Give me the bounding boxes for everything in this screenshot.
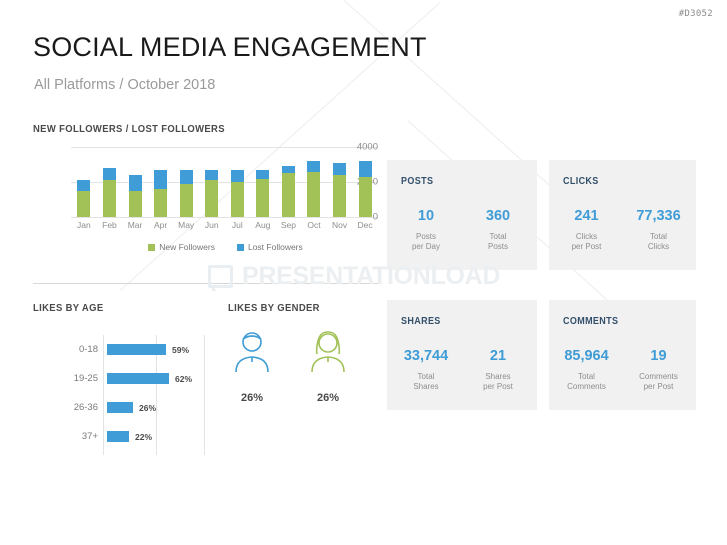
bar-segment-new-followers: [282, 173, 295, 217]
age-row: 37+22%: [28, 422, 203, 451]
bar-segment-new-followers: [333, 175, 346, 217]
section-divider: [33, 283, 378, 284]
presentationload-logo-icon: [208, 265, 233, 288]
kpi-caption: TotalComments: [567, 372, 606, 392]
bar-segment-new-followers: [307, 172, 320, 218]
gender-item-female: 26%: [304, 330, 352, 404]
x-tick-mar: Mar: [124, 220, 146, 230]
kpi-caption: TotalShares: [413, 372, 438, 392]
bar-segment-lost-followers: [154, 170, 167, 189]
bar-segment-lost-followers: [180, 170, 193, 184]
kpi-stat: 10 Postsper Day: [397, 208, 455, 252]
age-bar: [107, 431, 129, 442]
kpi-caption: Postsper Day: [412, 232, 440, 252]
x-tick-jan: Jan: [73, 220, 95, 230]
bar-column-jun: [201, 147, 223, 217]
bar-segment-new-followers: [77, 191, 90, 217]
followers-bars: [73, 147, 376, 217]
bar-column-mar: [124, 147, 146, 217]
bar-column-jul: [226, 147, 248, 217]
kpi-caption: TotalClicks: [648, 232, 669, 252]
likes-by-age-chart: LIKES BY AGE 0-1859%19-2562%26-3626%37+2…: [28, 302, 203, 457]
bar-column-apr: [150, 147, 172, 217]
kpi-stat: 85,964 TotalComments: [558, 348, 616, 392]
bar-column-oct: [303, 147, 325, 217]
bar-column-sep: [278, 147, 300, 217]
kpi-stat: 21 Sharesper Post: [469, 348, 527, 392]
age-value: 62%: [175, 374, 192, 384]
new-lost-followers-chart: NEW FOLLOWERS / LOST FOLLOWERS 4000 2000…: [33, 123, 378, 268]
kpi-card-comments[interactable]: COMMENTS 85,964 TotalComments 19 Comment…: [549, 300, 696, 410]
age-value: 26%: [139, 403, 156, 413]
gender-item-male: 26%: [228, 330, 276, 404]
kpi-stat: 241 Clicksper Post: [558, 208, 616, 252]
kpi-stats: 10 Postsper Day 360 TotalPosts: [387, 208, 537, 252]
page-title: SOCIAL MEDIA ENGAGEMENT: [33, 32, 427, 63]
followers-chart-title: NEW FOLLOWERS / LOST FOLLOWERS: [33, 123, 225, 135]
x-tick-aug: Aug: [252, 220, 274, 230]
female-person-icon: [308, 330, 348, 379]
kpi-stats: 241 Clicksper Post 77,336 TotalClicks: [549, 208, 696, 252]
bar-segment-lost-followers: [231, 170, 244, 182]
age-row: 19-2562%: [28, 364, 203, 393]
bar-column-nov: [329, 147, 351, 217]
bar-segment-lost-followers: [282, 166, 295, 173]
likes-by-age-title: LIKES BY AGE: [33, 302, 103, 314]
legend-item[interactable]: Lost Followers: [237, 242, 303, 252]
age-label: 0-18: [28, 344, 107, 355]
kpi-stat: 33,744 TotalShares: [397, 348, 455, 392]
kpi-value: 21: [490, 348, 506, 364]
age-label: 37+: [28, 431, 107, 442]
gender-female-percent: 26%: [317, 392, 339, 404]
kpi-caption: Commentsper Post: [639, 372, 678, 392]
kpi-title: SHARES: [401, 316, 441, 327]
bar-segment-new-followers: [231, 182, 244, 217]
kpi-stat: 77,336 TotalClicks: [630, 208, 688, 252]
age-label: 26-36: [28, 402, 107, 413]
bar-segment-new-followers: [103, 180, 116, 217]
bar-column-aug: [252, 147, 274, 217]
x-tick-sep: Sep: [278, 220, 300, 230]
kpi-value: 241: [574, 208, 598, 224]
age-bar: [107, 344, 166, 355]
legend-swatch: [237, 244, 244, 251]
gender-items: 26% 26%: [228, 330, 352, 404]
bar-column-may: [175, 147, 197, 217]
bar-segment-new-followers: [205, 180, 218, 217]
x-tick-may: May: [175, 220, 197, 230]
kpi-caption: TotalPosts: [488, 232, 508, 252]
x-tick-dec: Dec: [354, 220, 376, 230]
x-tick-nov: Nov: [329, 220, 351, 230]
bar-segment-lost-followers: [103, 168, 116, 180]
bar-segment-new-followers: [129, 191, 142, 217]
likes-by-gender-chart: LIKES BY GENDER 26%: [228, 302, 378, 432]
age-value: 22%: [135, 432, 152, 442]
kpi-card-shares[interactable]: SHARES 33,744 TotalShares 21 Sharesper P…: [387, 300, 537, 410]
bar-segment-new-followers: [256, 179, 269, 218]
x-tick-jul: Jul: [226, 220, 248, 230]
kpi-stat: 360 TotalPosts: [469, 208, 527, 252]
kpi-value: 77,336: [636, 208, 680, 224]
bar-segment-lost-followers: [359, 161, 372, 177]
x-tick-apr: Apr: [150, 220, 172, 230]
bar-segment-lost-followers: [307, 161, 320, 172]
x-tick-feb: Feb: [99, 220, 121, 230]
kpi-title: POSTS: [401, 176, 433, 187]
page-subtitle: All Platforms / October 2018: [34, 77, 215, 93]
bar-column-feb: [99, 147, 121, 217]
followers-x-axis: JanFebMarAprMayJunJulAugSepOctNovDec: [73, 220, 376, 230]
male-person-icon: [232, 330, 272, 379]
kpi-card-posts[interactable]: POSTS 10 Postsper Day 360 TotalPosts: [387, 160, 537, 270]
kpi-card-clicks[interactable]: CLICKS 241 Clicksper Post 77,336 TotalCl…: [549, 160, 696, 270]
bar-column-jan: [73, 147, 95, 217]
kpi-value: 85,964: [564, 348, 608, 364]
bar-segment-new-followers: [180, 184, 193, 217]
kpi-value: 19: [650, 348, 666, 364]
age-bar: [107, 402, 133, 413]
kpi-title: CLICKS: [563, 176, 599, 187]
kpi-value: 10: [418, 208, 434, 224]
age-bar: [107, 373, 169, 384]
followers-legend: New FollowersLost Followers: [73, 242, 378, 252]
bar-segment-lost-followers: [205, 170, 218, 181]
followers-plot-area: 4000 2000 0 JanFebMarAprMayJunJulAugSepO…: [33, 147, 378, 267]
kpi-caption: Sharesper Post: [483, 372, 513, 392]
bar-segment-new-followers: [359, 177, 372, 217]
legend-swatch: [148, 244, 155, 251]
bar-segment-lost-followers: [256, 170, 269, 179]
bar-column-dec: [354, 147, 376, 217]
legend-item[interactable]: New Followers: [148, 242, 215, 252]
document-id: #D3052: [679, 9, 713, 19]
age-value: 59%: [172, 345, 189, 355]
x-tick-oct: Oct: [303, 220, 325, 230]
legend-label: Lost Followers: [248, 242, 303, 252]
kpi-stats: 33,744 TotalShares 21 Sharesper Post: [387, 348, 537, 392]
gender-male-percent: 26%: [241, 392, 263, 404]
bar-segment-lost-followers: [333, 163, 346, 175]
age-gridline: [204, 335, 205, 455]
gridline-0: [71, 217, 378, 218]
kpi-stat: 19 Commentsper Post: [630, 348, 688, 392]
kpi-value: 360: [486, 208, 510, 224]
kpi-stats: 85,964 TotalComments 19 Commentsper Post: [549, 348, 696, 392]
bar-segment-new-followers: [154, 189, 167, 217]
kpi-title: COMMENTS: [563, 316, 618, 327]
likes-by-gender-title: LIKES BY GENDER: [228, 302, 320, 314]
age-label: 19-25: [28, 373, 107, 384]
age-rows: 0-1859%19-2562%26-3626%37+22%: [28, 335, 203, 451]
age-row: 0-1859%: [28, 335, 203, 364]
kpi-caption: Clicksper Post: [572, 232, 602, 252]
age-row: 26-3626%: [28, 393, 203, 422]
x-tick-jun: Jun: [201, 220, 223, 230]
bar-segment-lost-followers: [77, 180, 90, 191]
legend-label: New Followers: [159, 242, 215, 252]
bar-segment-lost-followers: [129, 175, 142, 191]
kpi-value: 33,744: [404, 348, 448, 364]
